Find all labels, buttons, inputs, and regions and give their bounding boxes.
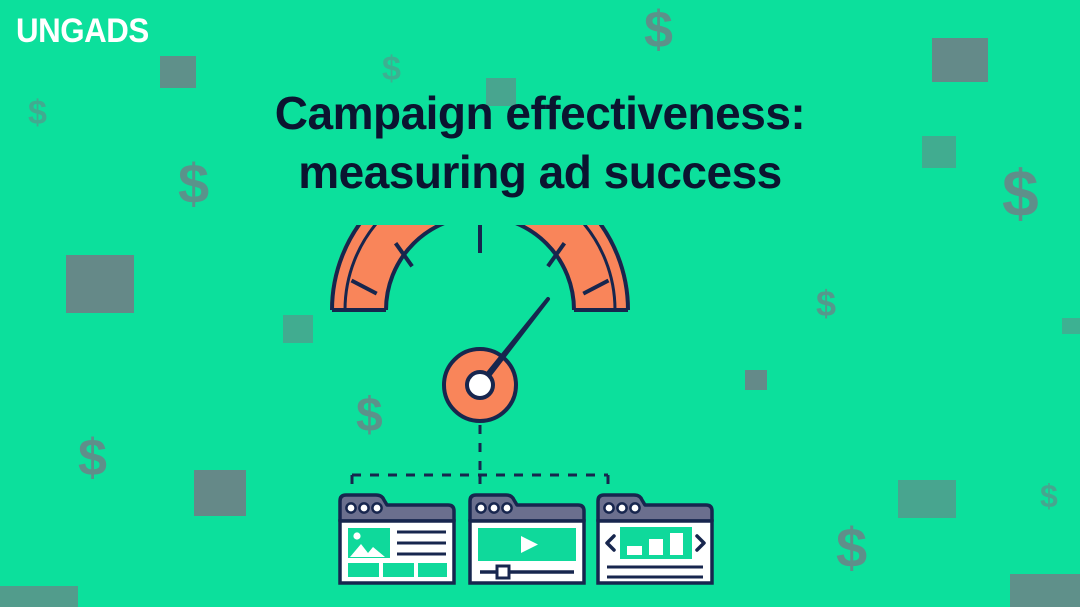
- window-dots: [604, 503, 639, 512]
- decorative-square: [932, 38, 988, 82]
- decorative-dollar-icon: $: [644, 4, 673, 56]
- page-title: Campaign effectiveness: measuring ad suc…: [0, 84, 1080, 202]
- window-dots: [346, 503, 381, 512]
- photo-sun-icon: [353, 532, 360, 539]
- brand-logo: UNGADS: [16, 12, 149, 51]
- window-titlebar: [598, 495, 712, 521]
- decorative-dollar-icon: $: [382, 52, 401, 86]
- page-title-line-1: Campaign effectiveness:: [0, 84, 1080, 143]
- video-ad-window[interactable]: [470, 495, 584, 583]
- window-thumbnail-blocks: [348, 563, 447, 577]
- window-dots: [476, 503, 511, 512]
- illustration-container: [0, 225, 1080, 585]
- speedometer-gauge: [332, 225, 628, 421]
- gauge-needle-pivot: [467, 372, 493, 398]
- dashed-connector: [352, 425, 608, 491]
- article-ad-window[interactable]: [340, 495, 454, 583]
- window-titlebar: [340, 495, 454, 521]
- video-progress-handle[interactable]: [497, 566, 509, 578]
- campaign-illustration: [330, 225, 750, 585]
- page-title-line-2: measuring ad success: [0, 143, 1080, 202]
- decorative-square: [0, 586, 78, 607]
- window-titlebar: [470, 495, 584, 521]
- carousel-ad-window[interactable]: [598, 495, 712, 583]
